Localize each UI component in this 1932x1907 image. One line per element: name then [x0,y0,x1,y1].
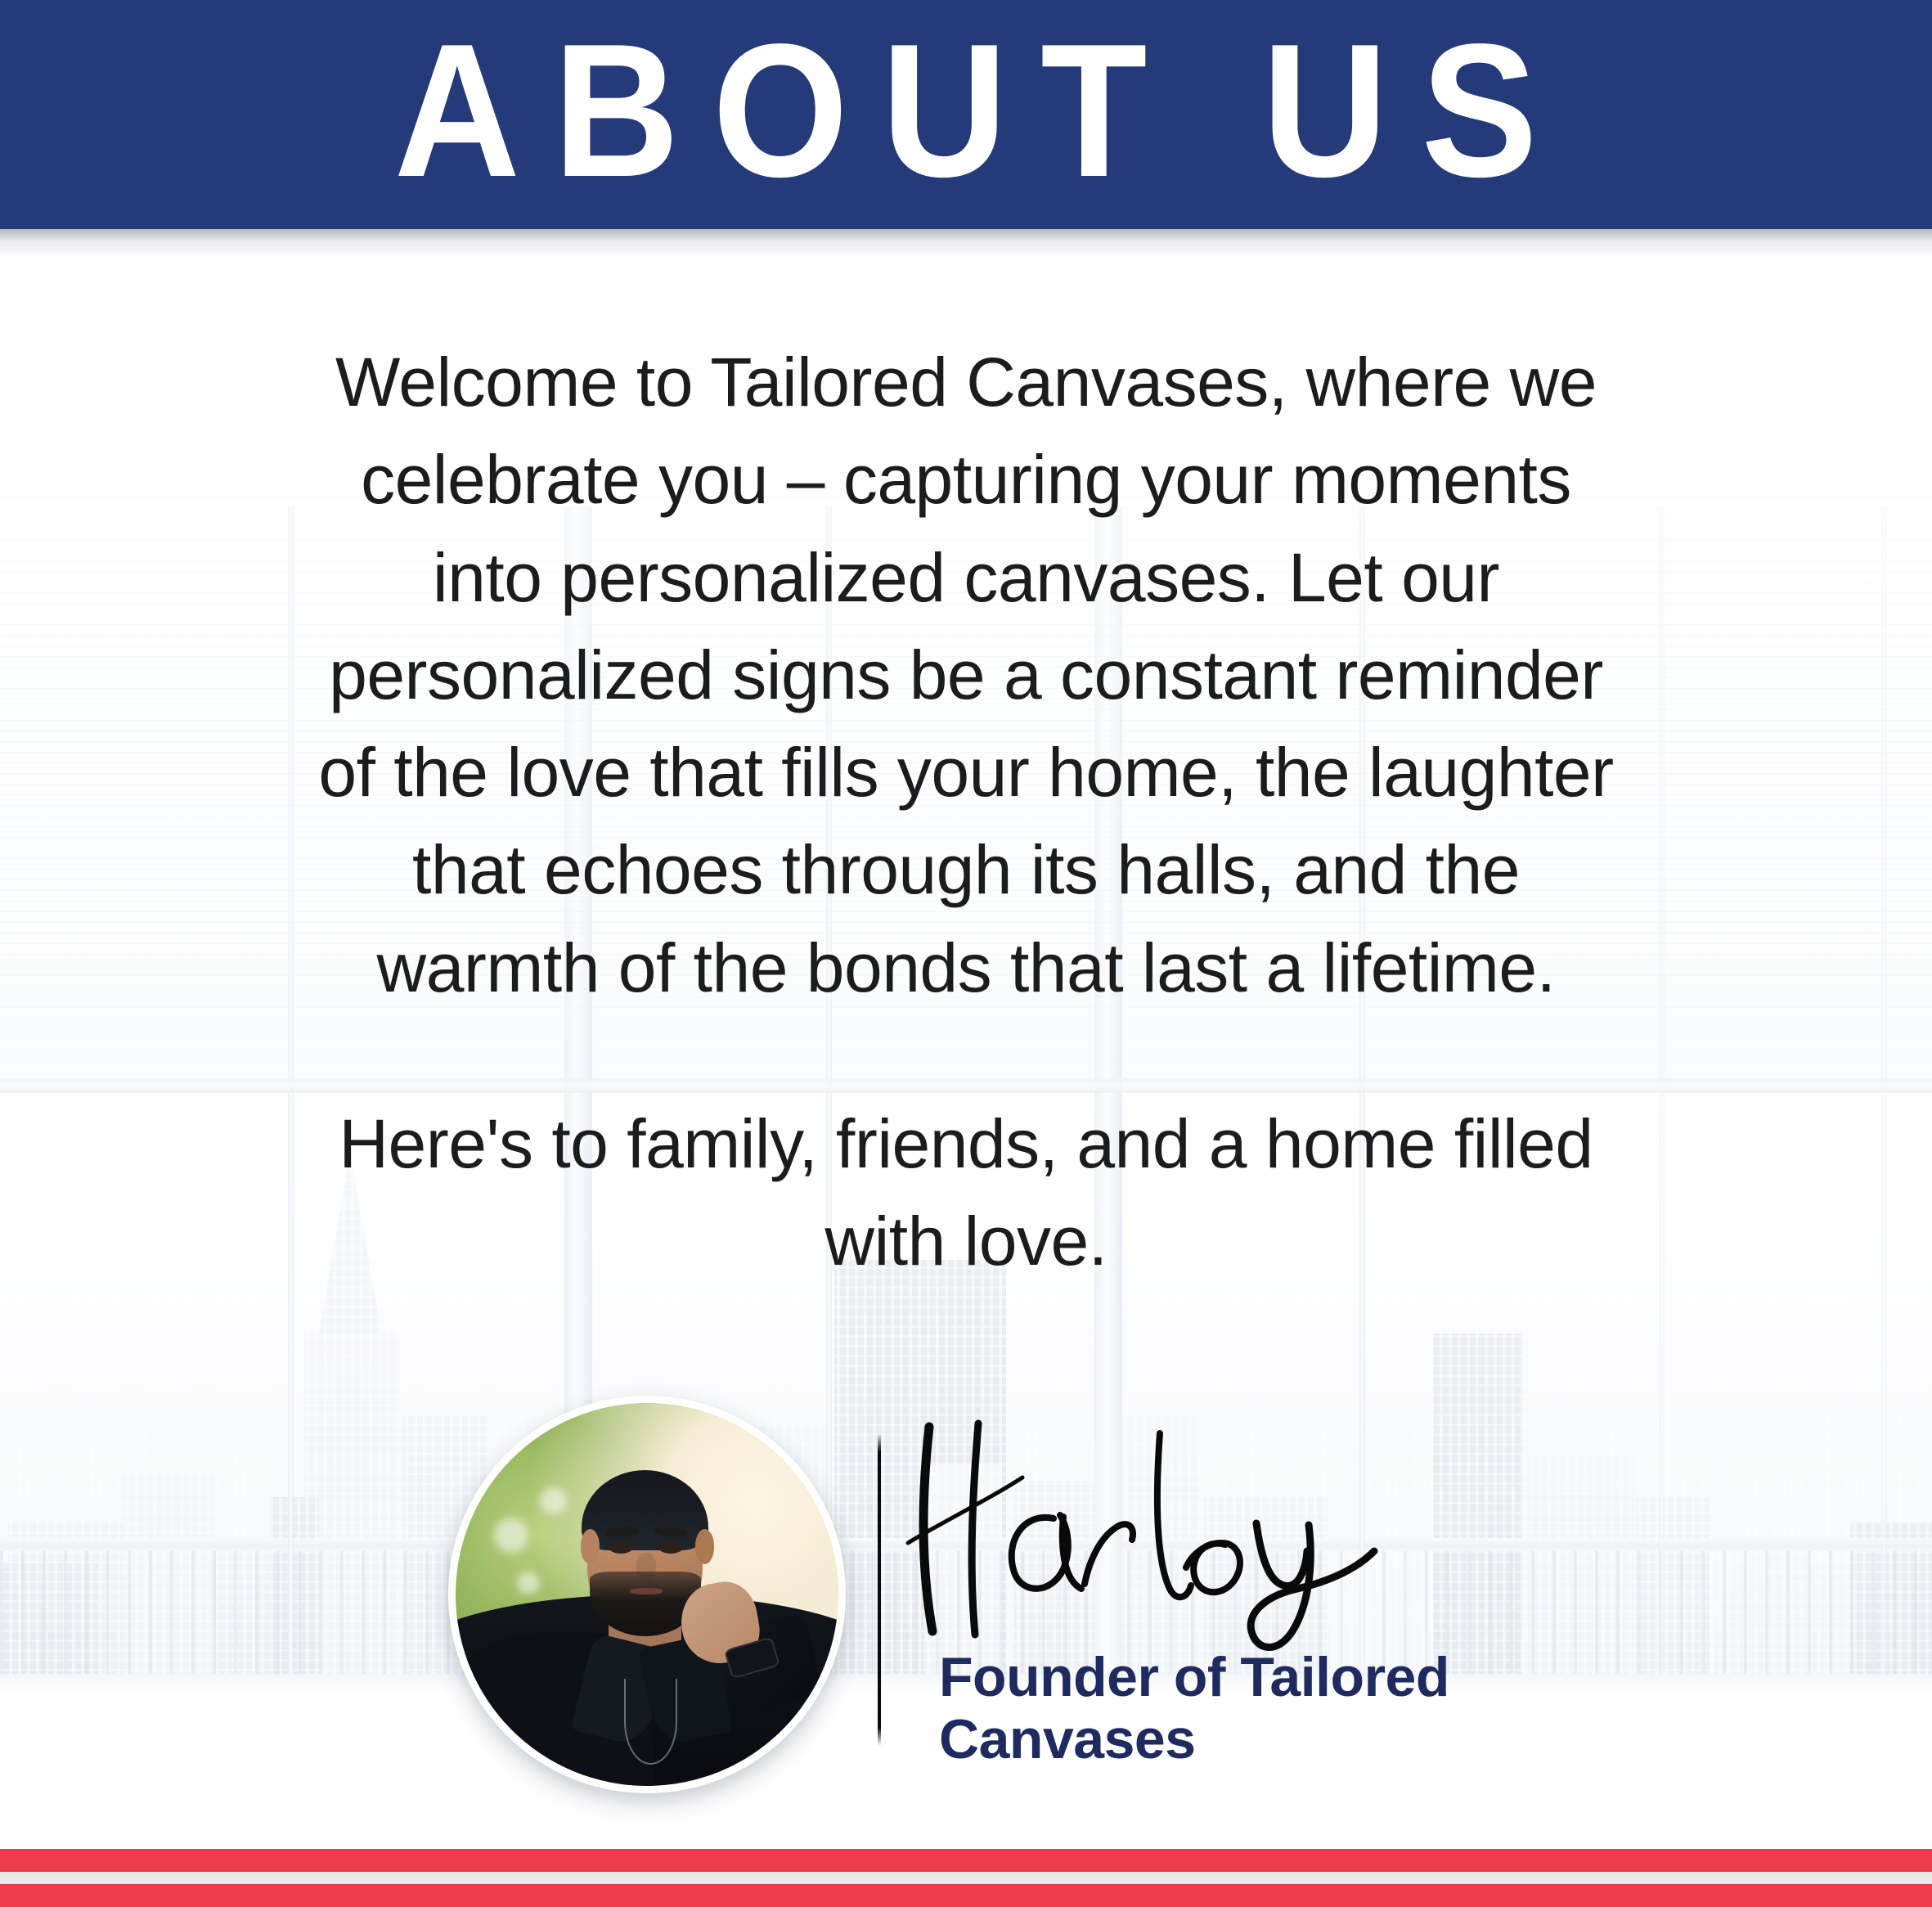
founder-signature: Harley [900,1420,1456,1657]
paragraph-line: celebrate you – capturing your moments [230,431,1702,528]
paragraph-line: Here's to family, friends, and a home fi… [230,1095,1702,1193]
footer-bar-bottom [0,1884,1932,1907]
founder-title: Founder of Tailored Canvases [939,1646,1675,1770]
paragraph-line: Welcome to Tailored Canvases, where we [230,334,1702,431]
footer-bar-gap [0,1872,1932,1884]
paragraph-line: with love. [230,1193,1702,1290]
banner-drop-shadow [0,229,1932,257]
founder-title-line-1: Founder of Tailored [939,1646,1675,1708]
about-us-banner: ABOUT US [0,0,1932,229]
founder-photo [456,1403,838,1786]
footer-bar-top [0,1849,1932,1872]
signature-divider [878,1433,881,1746]
paragraph-gap [230,1017,1702,1095]
page-title: ABOUT US [362,16,1571,206]
paragraph-line: personalized signs be a constant reminde… [230,627,1702,724]
paragraph-line: of the love that fills your home, the la… [230,724,1702,821]
founder-title-line-2: Canvases [939,1708,1675,1770]
paragraph-line: into personalized canvases. Let our [230,529,1702,627]
paragraph-line: warmth of the bonds that last a lifetime… [230,920,1702,1017]
paragraph-line: that echoes through its halls, and the [230,821,1702,919]
founder-avatar [448,1396,846,1793]
about-us-body: Welcome to Tailored Canvases, where we c… [230,334,1702,1290]
